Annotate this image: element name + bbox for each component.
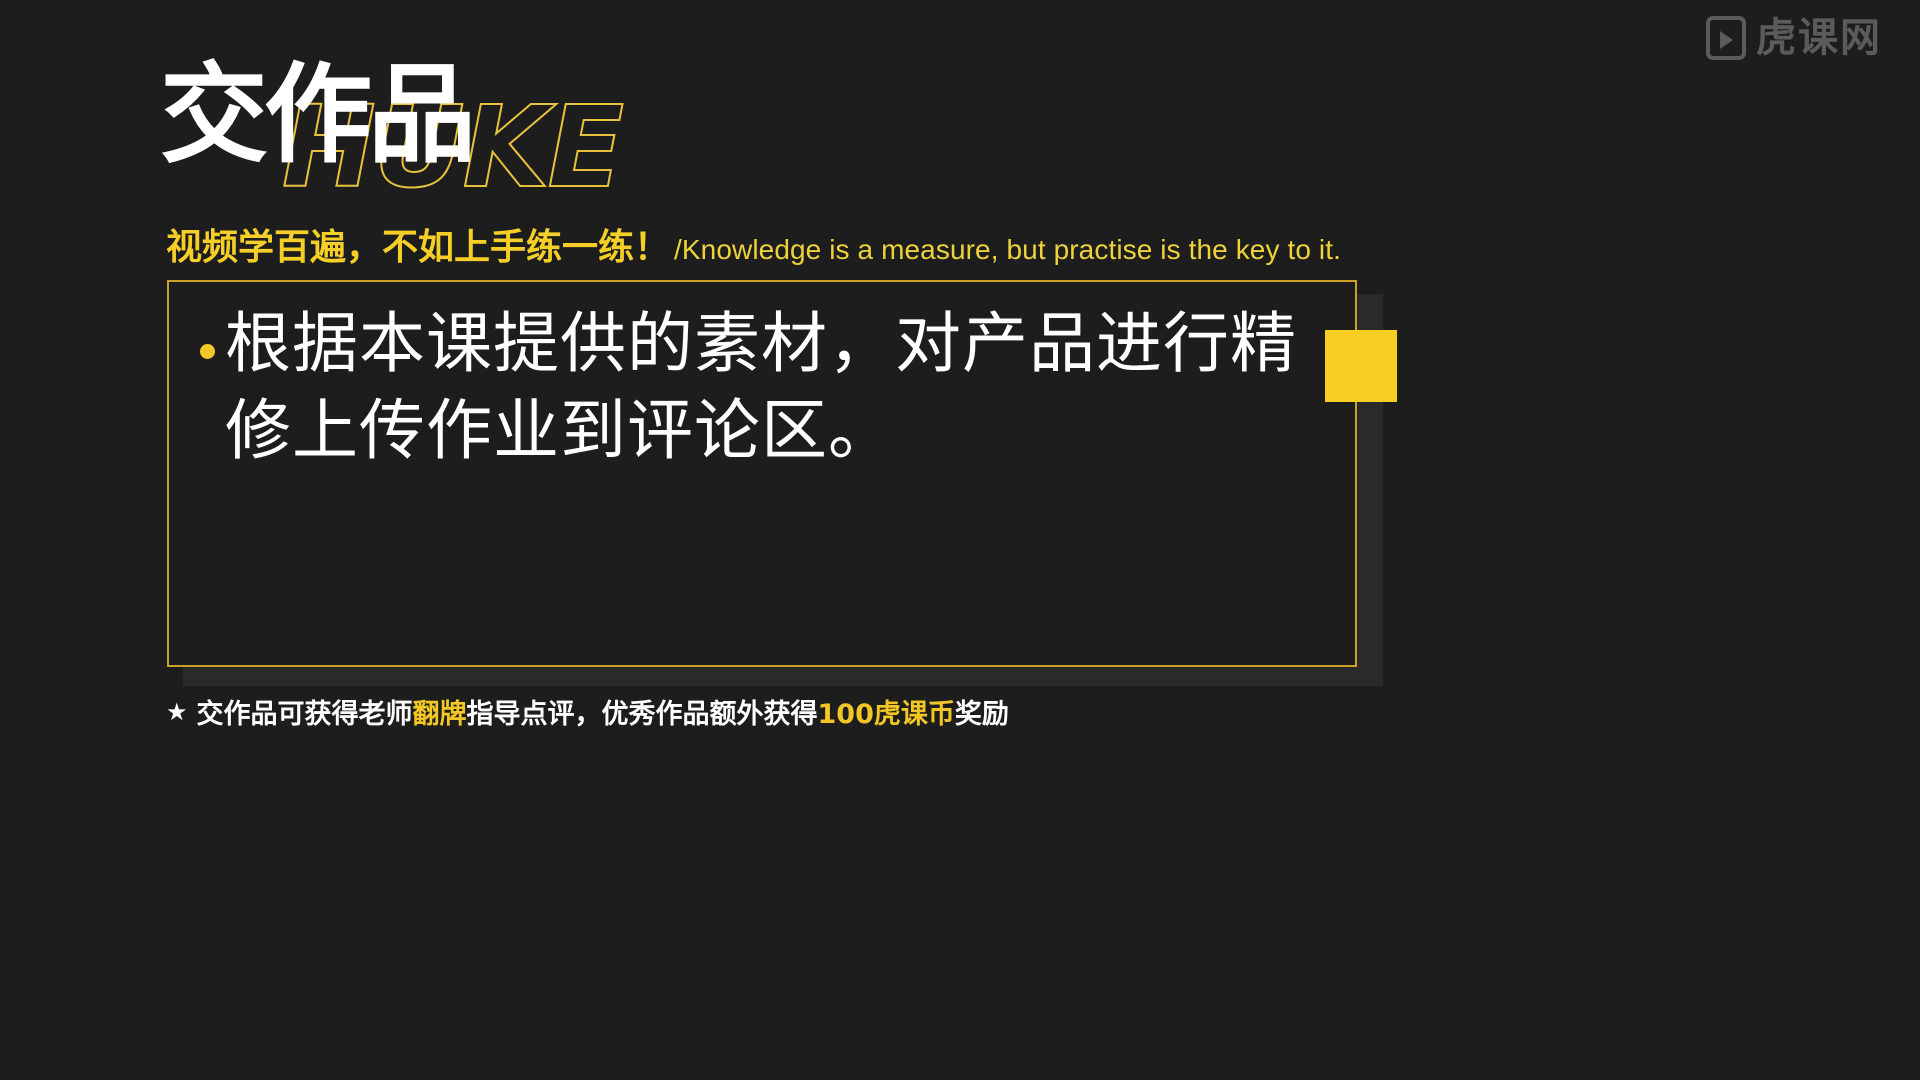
footnote-part-3: 奖励 — [955, 692, 1009, 731]
subtitle-row: 视频学百遍，不如上手练一练！ /Knowledge is a measure, … — [166, 218, 1341, 270]
title-main-text: 交作品 — [160, 62, 472, 170]
assignment-body-text: 根据本课提供的素材，对产品进行精修上传作业到评论区。 — [225, 300, 1300, 474]
footnote-part-1: 交作品可获得老师 — [197, 692, 413, 731]
page-title: HUKE 交作品 — [160, 62, 920, 202]
subtitle-chinese: 视频学百遍，不如上手练一练！ — [166, 218, 670, 270]
play-logo-icon — [1706, 16, 1746, 60]
subtitle-english: /Knowledge is a measure, but practise is… — [674, 234, 1341, 266]
accent-square-decoration — [1325, 330, 1397, 402]
brand-name: 虎课网 — [1756, 18, 1882, 58]
assignment-content: 根据本课提供的素材，对产品进行精修上传作业到评论区。 — [200, 300, 1330, 474]
dot-bullet-icon — [200, 344, 215, 359]
footnote-highlight-2: 100虎课币 — [818, 692, 955, 731]
star-icon: ★ — [166, 698, 188, 726]
footnote: ★ 交作品可获得老师 翻牌 指导点评，优秀作品额外获得 100虎课币 奖励 — [166, 692, 1009, 731]
footnote-part-2: 指导点评，优秀作品额外获得 — [467, 692, 818, 731]
footnote-highlight-1: 翻牌 — [413, 692, 467, 731]
brand-watermark: 虎课网 — [1706, 16, 1882, 60]
